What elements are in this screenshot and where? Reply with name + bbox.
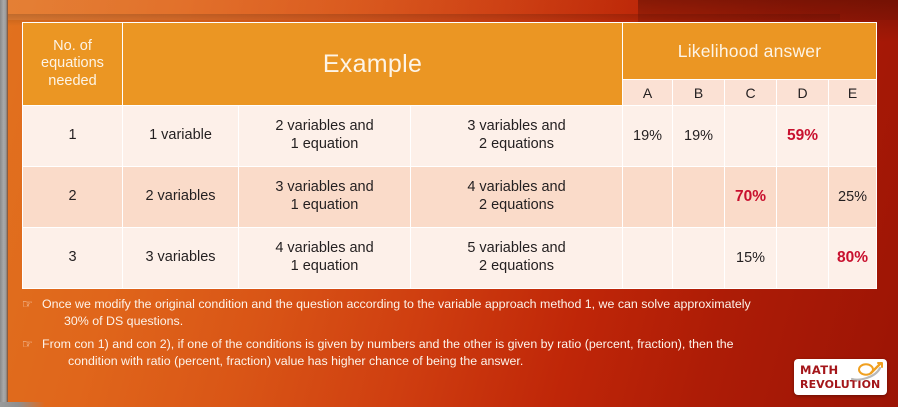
- cell-likelihood-a: [623, 228, 673, 289]
- cell-likelihood-e: 25%: [829, 167, 877, 228]
- cell-likelihood-d: 59%: [777, 106, 829, 167]
- header-choice-c: C: [725, 80, 777, 106]
- cell-likelihood-b: 19%: [673, 106, 725, 167]
- cell-example-2-line2: 1 equation: [291, 136, 359, 152]
- slide-canvas: No. of equations needed Example Likeliho…: [0, 0, 898, 407]
- table-row: 1 1 variable 2 variables and 1 equation …: [23, 106, 877, 167]
- header-example: Example: [123, 23, 623, 106]
- note-line2: condition with ratio (percent, fraction)…: [42, 353, 878, 370]
- cell-example-2: 4 variables and 1 equation: [239, 228, 411, 289]
- cell-likelihood-e: 80%: [829, 228, 877, 289]
- cell-equations-needed: 2: [23, 167, 123, 228]
- cell-equations-needed: 1: [23, 106, 123, 167]
- cell-equations-needed: 3: [23, 228, 123, 289]
- header-choice-a: A: [623, 80, 673, 106]
- header-choice-d: D: [777, 80, 829, 106]
- header-equations-needed: No. of equations needed: [23, 23, 123, 106]
- cell-example-1-line1: 1 variable: [149, 127, 212, 143]
- header-choice-b: B: [673, 80, 725, 106]
- cell-example-2: 3 variables and 1 equation: [239, 167, 411, 228]
- cell-example-3-line1: 3 variables and: [467, 118, 565, 134]
- logo-line1: MATH: [800, 363, 839, 377]
- cell-example-2-line1: 4 variables and: [275, 240, 373, 256]
- note-line1: From con 1) and con 2), if one of the co…: [42, 337, 734, 351]
- cell-example-3: 3 variables and 2 equations: [411, 106, 623, 167]
- cell-example-1-line1: 3 variables: [145, 249, 215, 265]
- cell-example-3-line2: 2 equations: [479, 258, 554, 274]
- header-choice-e: E: [829, 80, 877, 106]
- note-line2: 30% of DS questions.: [42, 313, 878, 330]
- cell-example-3-line1: 5 variables and: [467, 240, 565, 256]
- note-text: Once we modify the original condition an…: [42, 296, 878, 329]
- cell-example-2-line1: 3 variables and: [275, 179, 373, 195]
- cell-example-2-line2: 1 equation: [291, 258, 359, 274]
- table-body: 1 1 variable 2 variables and 1 equation …: [23, 106, 877, 289]
- cell-example-3: 5 variables and 2 equations: [411, 228, 623, 289]
- likelihood-table-wrapper: No. of equations needed Example Likeliho…: [22, 22, 876, 289]
- cell-likelihood-b: [673, 167, 725, 228]
- cell-example-3-line2: 2 equations: [479, 136, 554, 152]
- table-row: 2 2 variables 3 variables and 1 equation…: [23, 167, 877, 228]
- pointing-hand-bullet-icon: ☞: [22, 336, 42, 352]
- top-sheen-band: [0, 0, 898, 20]
- cell-example-2: 2 variables and 1 equation: [239, 106, 411, 167]
- cell-likelihood-a: [623, 167, 673, 228]
- cell-example-3: 4 variables and 2 equations: [411, 167, 623, 228]
- notes-block: ☞ Once we modify the original condition …: [22, 296, 878, 377]
- note-line1: Once we modify the original condition an…: [42, 297, 751, 311]
- note-item: ☞ From con 1) and con 2), if one of the …: [22, 336, 878, 369]
- cell-example-1: 1 variable: [123, 106, 239, 167]
- cell-example-3-line1: 4 variables and: [467, 179, 565, 195]
- header-equations-needed-line2: equations: [41, 55, 104, 71]
- cell-likelihood-d: [777, 228, 829, 289]
- note-item: ☞ Once we modify the original condition …: [22, 296, 878, 329]
- cell-example-1: 3 variables: [123, 228, 239, 289]
- cell-likelihood-c: 15%: [725, 228, 777, 289]
- likelihood-table: No. of equations needed Example Likeliho…: [22, 22, 877, 289]
- logo-swoosh-icon: [849, 362, 883, 382]
- cell-likelihood-c: 70%: [725, 167, 777, 228]
- cell-likelihood-a: 19%: [623, 106, 673, 167]
- math-revolution-logo: MATH REVOLUTION: [794, 359, 887, 395]
- cell-example-3-line2: 2 equations: [479, 197, 554, 213]
- cell-likelihood-d: [777, 167, 829, 228]
- cell-likelihood-c: [725, 106, 777, 167]
- cell-example-2-line1: 2 variables and: [275, 118, 373, 134]
- left-edge-strip: [0, 0, 8, 407]
- cell-example-2-line2: 1 equation: [291, 197, 359, 213]
- cell-likelihood-b: [673, 228, 725, 289]
- header-equations-needed-line1: No. of: [53, 38, 92, 54]
- cell-likelihood-e: [829, 106, 877, 167]
- note-text: From con 1) and con 2), if one of the co…: [42, 336, 878, 369]
- pointing-hand-bullet-icon: ☞: [22, 296, 42, 312]
- bottom-edge-strip: [0, 402, 898, 407]
- cell-example-1: 2 variables: [123, 167, 239, 228]
- header-likelihood-answer: Likelihood answer: [623, 23, 877, 80]
- table-row: 3 3 variables 4 variables and 1 equation…: [23, 228, 877, 289]
- header-equations-needed-line3: needed: [48, 73, 96, 89]
- table-header-row-1: No. of equations needed Example Likeliho…: [23, 23, 877, 80]
- cell-example-1-line1: 2 variables: [145, 188, 215, 204]
